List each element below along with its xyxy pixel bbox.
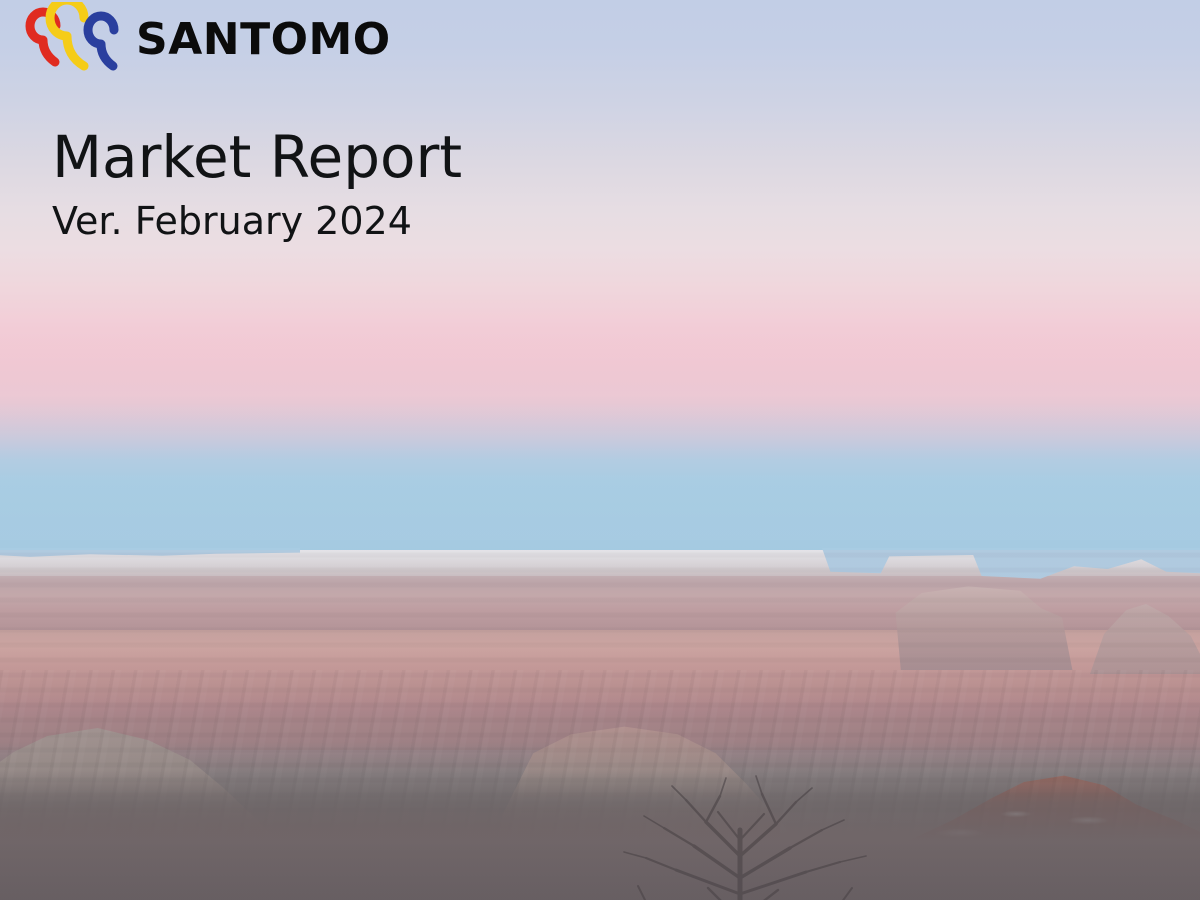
santomo-tricolor-swirl-logo bbox=[18, 2, 122, 78]
title-slide: SANTOMO Market Report Ver. February 2024 bbox=[0, 0, 1200, 900]
page-subtitle: Ver. February 2024 bbox=[52, 200, 462, 244]
brand-wordmark: SANTOMO bbox=[136, 18, 391, 62]
title-block: Market Report Ver. February 2024 bbox=[52, 126, 462, 243]
bare-tree-silhouette bbox=[590, 760, 890, 900]
canyon-photograph bbox=[0, 550, 1200, 900]
page-title: Market Report bbox=[52, 126, 462, 190]
sky-background bbox=[0, 0, 1200, 580]
horizon-blue-band bbox=[0, 470, 1200, 540]
brand-logo: SANTOMO bbox=[18, 2, 391, 78]
sky-glow-band bbox=[0, 330, 1200, 460]
